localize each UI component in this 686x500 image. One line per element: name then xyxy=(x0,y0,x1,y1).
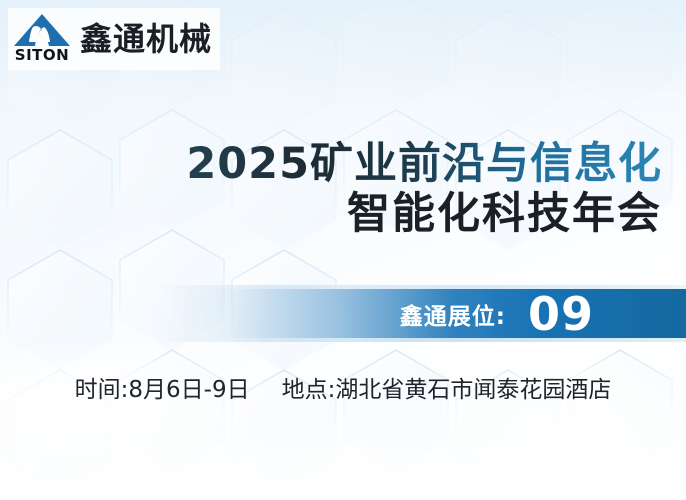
poster-title: 2025矿业前沿与信息化 智能化科技年会 xyxy=(22,140,662,242)
event-time: 时间:8月6日-9日 xyxy=(75,370,250,404)
hexagon-pattern-background xyxy=(0,0,686,500)
event-location: 地点:湖北省黄石市闻泰花园酒店 xyxy=(282,370,612,404)
booth-label: 鑫通展位: xyxy=(400,297,506,331)
title-line-2: 智能化科技年会 xyxy=(22,188,662,242)
siton-mountain-mark-icon: SITON xyxy=(12,13,72,65)
logo-english-name: SITON xyxy=(15,48,69,63)
logo-chinese-name: 鑫通机械 xyxy=(80,23,212,55)
title-line-1: 2025矿业前沿与信息化 xyxy=(22,140,662,188)
booth-number: 09 xyxy=(528,291,594,337)
event-details: 时间:8月6日-9日 地点:湖北省黄石市闻泰花园酒店 xyxy=(0,370,686,404)
exhibition-poster: SITON 鑫通机械 2025矿业前沿与信息化 智能化科技年会 鑫通展位: 09… xyxy=(0,0,686,500)
company-logo: SITON 鑫通机械 xyxy=(8,8,220,70)
booth-number-band: 鑫通展位: 09 xyxy=(155,285,686,342)
bottom-left-glow xyxy=(0,340,270,480)
